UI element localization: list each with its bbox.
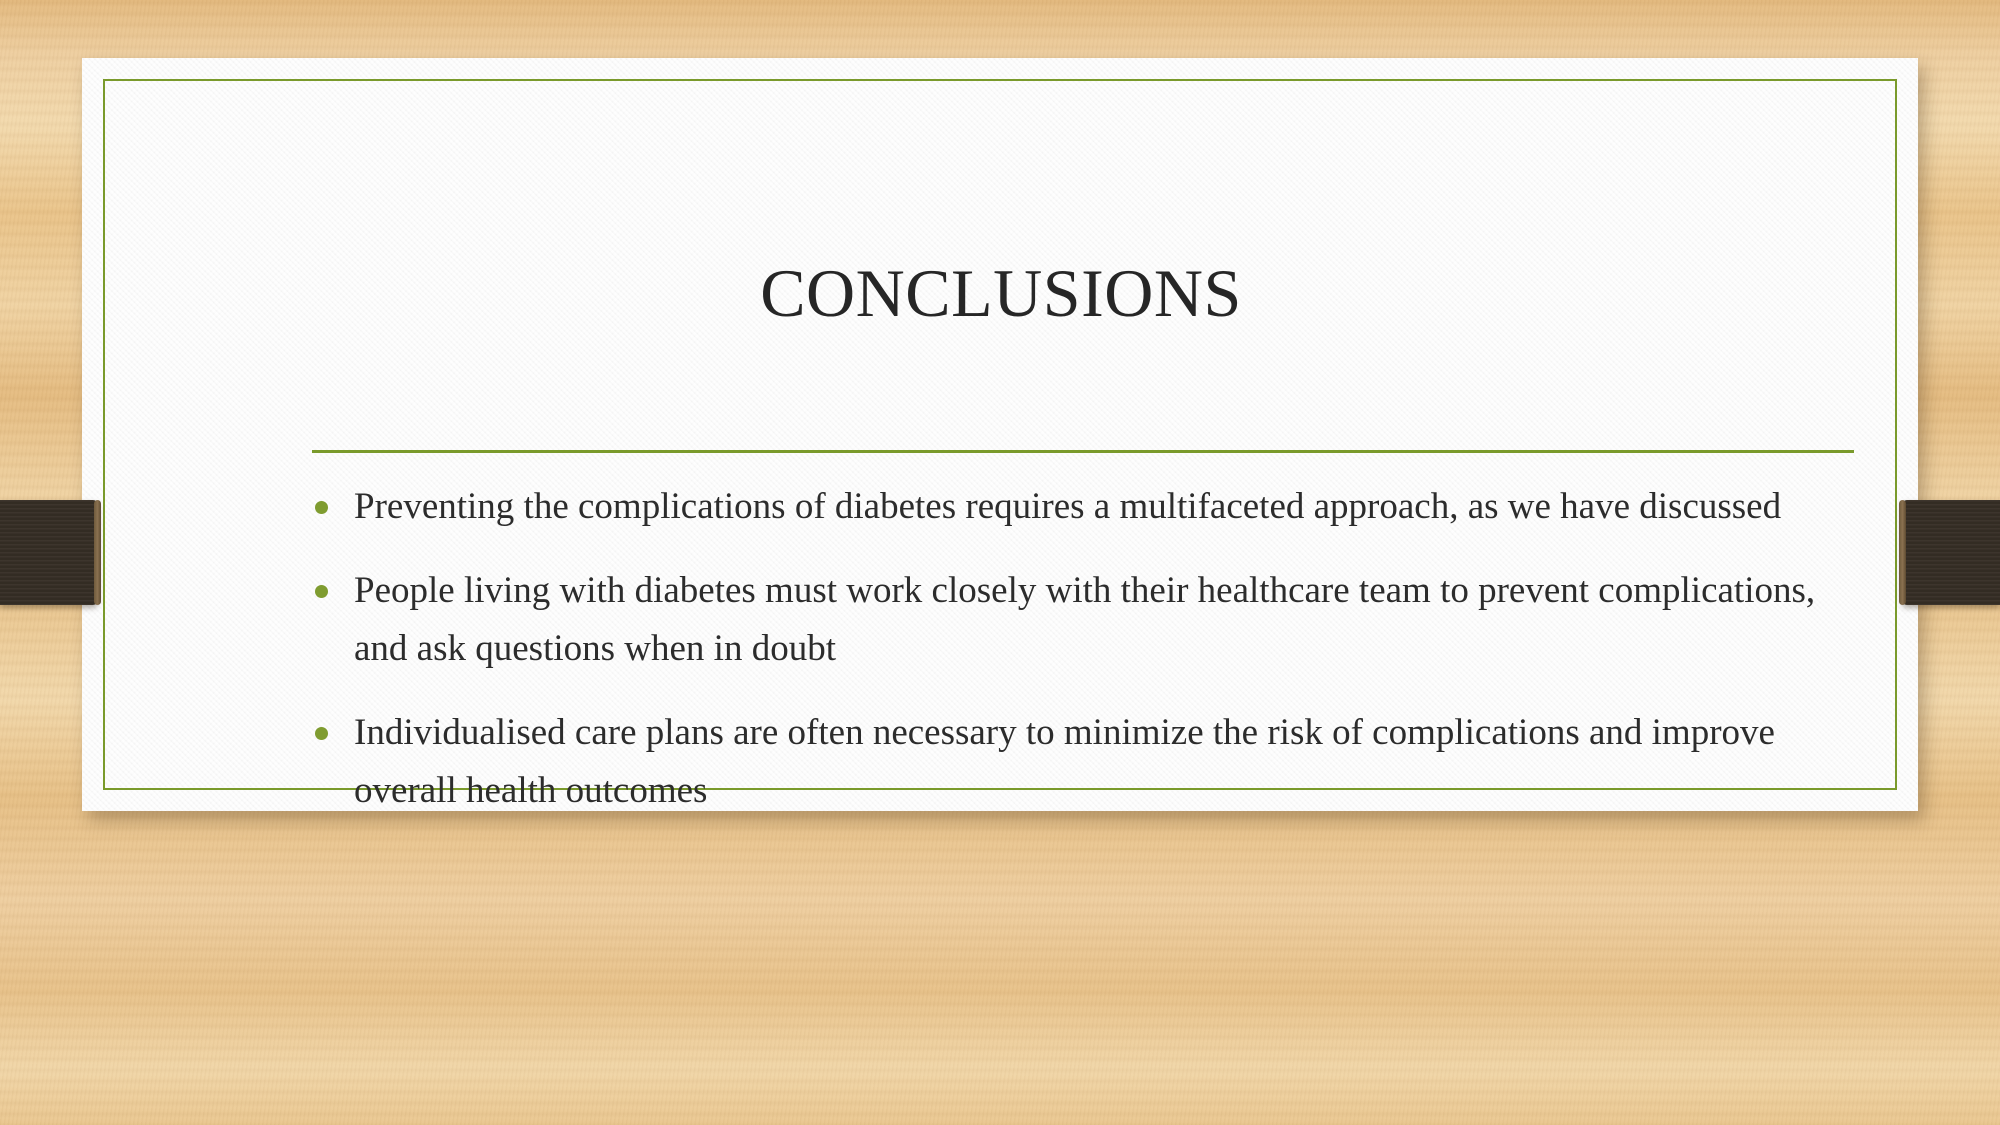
list-item: Individualised care plans are often nece… [306,704,1866,820]
list-item-text: Preventing the complications of diabetes… [354,478,1866,536]
left-tab-cap-icon [94,500,101,605]
page-title: CONCLUSIONS [230,254,1772,332]
bullet-dot-icon [315,501,328,514]
slide-stage: CONCLUSIONS Preventing the complications… [0,0,2000,1125]
list-item-text: Individualised care plans are often nece… [354,704,1866,820]
right-tab-cap-icon [1899,500,1906,605]
title-divider [312,450,1854,453]
right-decorative-tab [1902,500,2000,605]
list-item: Preventing the complications of diabetes… [306,478,1866,536]
slide-card: CONCLUSIONS Preventing the complications… [82,58,1918,811]
bullet-list: Preventing the complications of diabetes… [306,478,1866,820]
list-item: People living with diabetes must work cl… [306,562,1866,678]
bullet-dot-icon [315,585,328,598]
list-item-text: People living with diabetes must work cl… [354,562,1866,678]
left-decorative-tab [0,500,98,605]
bullet-dot-icon [315,727,328,740]
